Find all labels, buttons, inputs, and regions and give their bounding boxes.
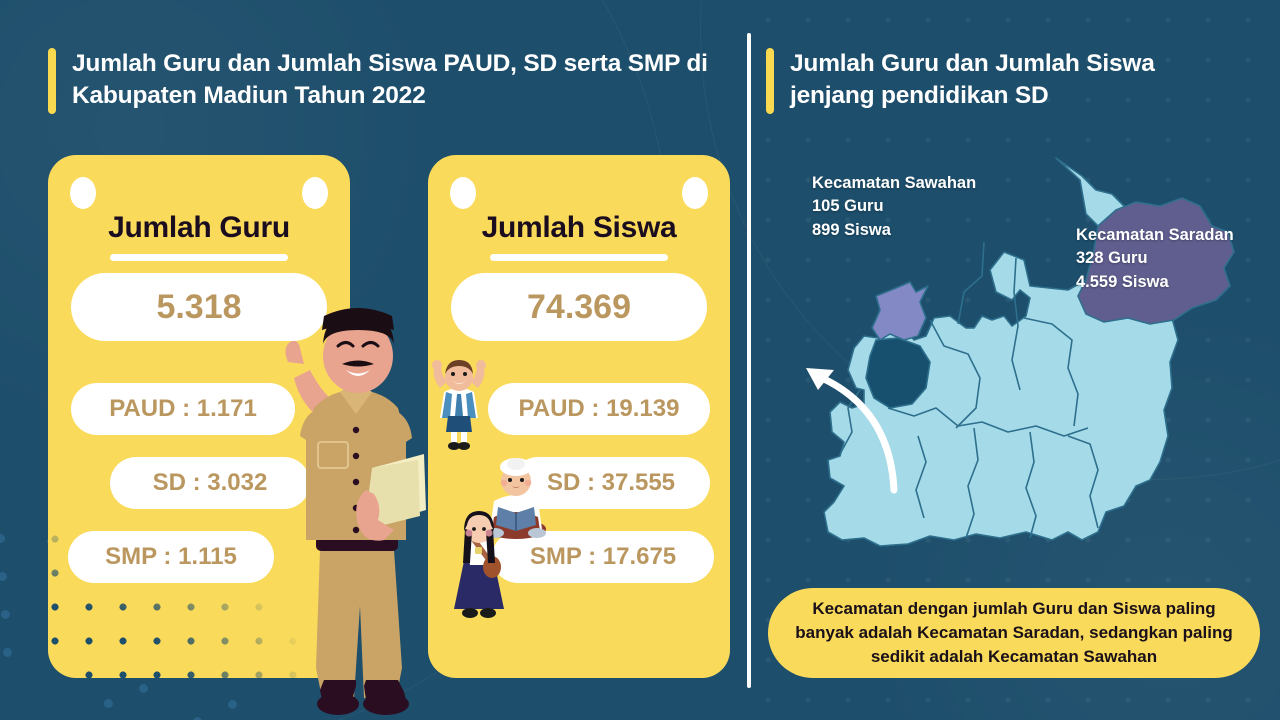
summary-note: Kecamatan dengan jumlah Guru dan Siswa p… [768, 588, 1260, 678]
summary-note-text: Kecamatan dengan jumlah Guru dan Siswa p… [790, 597, 1238, 669]
punch-hole-right [302, 177, 328, 209]
card-siswa-rule [490, 254, 668, 261]
card-siswa-row-paud: PAUD : 19.139 [488, 383, 710, 435]
map-label-sawahan-siswa: 899 Siswa [812, 219, 976, 242]
punch-hole-left [450, 177, 476, 209]
card-guru-heading: Jumlah Guru [48, 211, 350, 245]
card-siswa-total: 74.369 [451, 273, 707, 341]
left-title-text: Jumlah Guru dan Jumlah Siswa PAUD, SD se… [72, 48, 712, 112]
card-guru-rule [110, 254, 288, 261]
map-label-sawahan-name: Kecamatan Sawahan [812, 172, 976, 195]
right-title-text: Jumlah Guru dan Jumlah Siswa jenjang pen… [790, 48, 1220, 112]
map-label-saradan-guru: 328 Guru [1076, 247, 1234, 270]
student-girl-icon [448, 505, 510, 620]
punch-hole-right [682, 177, 708, 209]
map-district-sawahan-body [872, 282, 928, 340]
map-label-sawahan: Kecamatan Sawahan 105 Guru 899 Siswa [812, 172, 976, 242]
panel-divider [747, 33, 751, 688]
title-accent-bar-right [766, 48, 774, 114]
map-label-saradan-name: Kecamatan Saradan [1076, 224, 1234, 247]
map-label-sawahan-guru: 105 Guru [812, 195, 976, 218]
teacher-illustration-icon [262, 300, 452, 720]
card-siswa-heading: Jumlah Siswa [428, 211, 730, 245]
title-accent-bar-left [48, 48, 56, 114]
card-guru-row-smp: SMP : 1.115 [68, 531, 274, 583]
right-panel-title: Jumlah Guru dan Jumlah Siswa jenjang pen… [766, 48, 1220, 114]
map-label-saradan-siswa: 4.559 Siswa [1076, 271, 1234, 294]
map-label-saradan: Kecamatan Saradan 328 Guru 4.559 Siswa [1076, 224, 1234, 294]
student-cheering-icon [428, 358, 490, 450]
left-panel-title: Jumlah Guru dan Jumlah Siswa PAUD, SD se… [48, 48, 712, 114]
punch-hole-left [70, 177, 96, 209]
